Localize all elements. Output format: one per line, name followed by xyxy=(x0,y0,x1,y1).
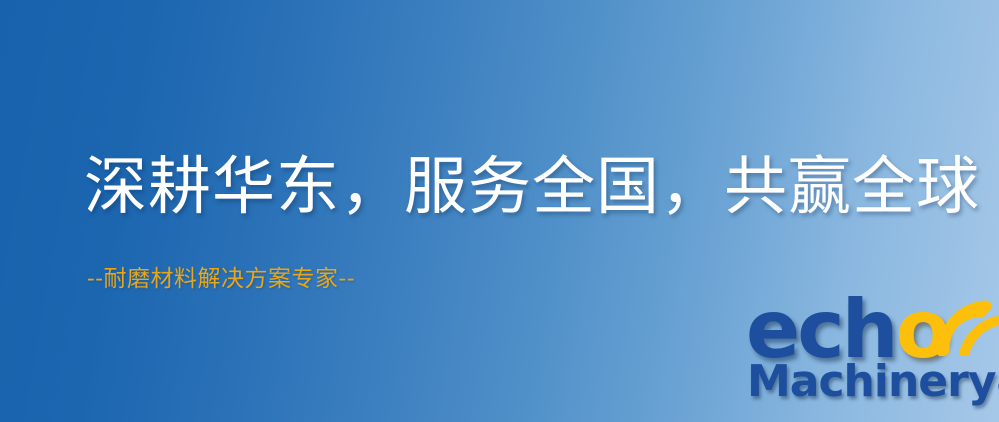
page-title: 深耕华东，服务全国，共赢全球 xyxy=(84,152,980,223)
logo-tagline-text: Machinery xyxy=(747,356,996,407)
logo-tagline: Machinery® xyxy=(747,360,999,404)
company-logo[interactable]: echo Machinery® xyxy=(744,296,999,422)
hero-banner: 深耕华东，服务全国，共赢全球 --耐磨材料解决方案专家-- echo Machi… xyxy=(0,0,999,422)
registered-trademark-icon: ® xyxy=(996,375,999,399)
signal-waves-icon xyxy=(934,294,999,356)
page-subtitle: --耐磨材料解决方案专家-- xyxy=(87,266,355,294)
